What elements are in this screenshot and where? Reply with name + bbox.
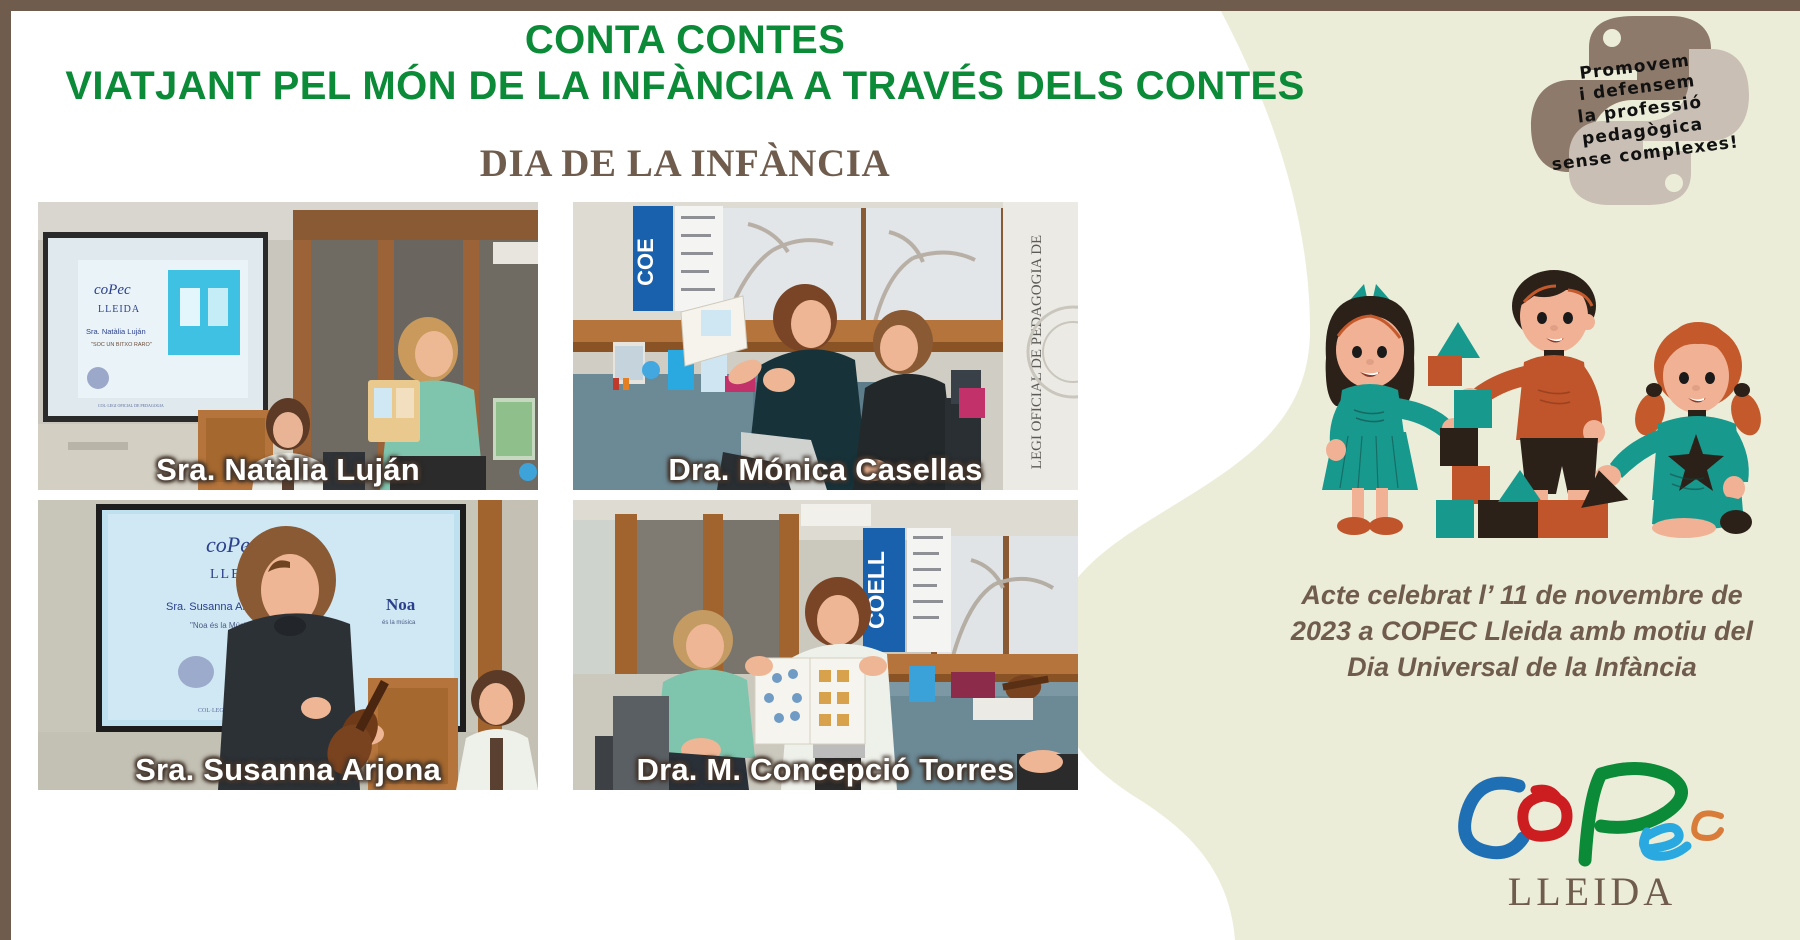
svg-text:"SOC UN BITXO RARO": "SOC UN BITXO RARO" <box>91 342 152 348</box>
title-line-1: CONTA CONTES <box>40 18 1330 64</box>
promovem-badge: Promovem i defensem la professió pedagòg… <box>1515 8 1765 213</box>
photo-3-scene: coPec LLEIDA Sra. Susanna Arjona "Noa és… <box>38 500 538 790</box>
copec-logo-city: LLEIDA <box>1442 868 1742 915</box>
photo-1-caption: Sra. Natàlia Luján <box>38 452 538 488</box>
svg-text:COL·LEGI OFICIAL DE PEDAGOGIA: COL·LEGI OFICIAL DE PEDAGOGIA <box>98 403 164 408</box>
title-block: CONTA CONTES VIATJANT PEL MÓN DE LA INFÀ… <box>40 18 1330 186</box>
event-note-line-3: Dia Universal de la Infància <box>1272 650 1772 686</box>
photo-2-caption: Dra. Mónica Casellas <box>573 452 1078 488</box>
svg-text:coPec: coPec <box>94 282 131 298</box>
photo-concepcio-torres[interactable]: COELL <box>573 500 1078 790</box>
svg-text:és la música: és la música <box>382 620 416 626</box>
kids-illustration-icon <box>1302 238 1792 568</box>
photo-4-scene: COELL <box>573 500 1078 790</box>
copec-logo: LLEIDA <box>1442 752 1742 922</box>
title-line-2: VIATJANT PEL MÓN DE LA INFÀNCIA A TRAVÉS… <box>40 64 1330 110</box>
children-playing-blocks-illustration <box>1302 238 1792 568</box>
frame-top-border <box>0 0 1800 11</box>
photo-2-scene: COE LEGI OFICIAL DE PEDAGOGIA DE <box>573 202 1078 490</box>
svg-text:Sra. Natàlia Luján: Sra. Natàlia Luján <box>86 327 146 336</box>
event-note: Acte celebrat l’ 11 de novembre de 2023 … <box>1272 578 1772 686</box>
girl-left-figure <box>1322 284 1466 535</box>
event-note-line-1: Acte celebrat l’ 11 de novembre de <box>1272 578 1772 614</box>
photo-monica-casellas[interactable]: COE LEGI OFICIAL DE PEDAGOGIA DE <box>573 202 1078 490</box>
photo-4-caption: Dra. M. Concepció Torres <box>573 752 1078 788</box>
photo-grid: coPec LLEIDA Sra. Natàlia Luján "SOC UN … <box>38 202 1078 884</box>
copec-wordmark-icon <box>1447 752 1737 872</box>
frame-left-border <box>0 0 11 940</box>
photo-3-caption: Sra. Susanna Arjona <box>38 752 538 788</box>
svg-text:LLEIDA: LLEIDA <box>98 304 140 315</box>
svg-text:Noa: Noa <box>386 595 416 614</box>
badge-text: Promovem i defensem la professió pedagòg… <box>1503 0 1776 227</box>
svg-text:COE: COE <box>633 238 658 286</box>
photo-susanna-arjona[interactable]: coPec LLEIDA Sra. Susanna Arjona "Noa és… <box>38 500 538 790</box>
event-note-line-2: 2023 a COPEC Lleida amb motiu del <box>1272 614 1772 650</box>
girl-right-figure <box>1595 322 1766 538</box>
svg-text:COL·LEGI: COL·LEGI <box>198 708 226 714</box>
subtitle: DIA DE LA INFÀNCIA <box>40 141 1330 186</box>
photo-natalia-lujan[interactable]: coPec LLEIDA Sra. Natàlia Luján "SOC UN … <box>38 202 538 490</box>
photo-1-scene: coPec LLEIDA Sra. Natàlia Luján "SOC UN … <box>38 202 538 490</box>
poster-canvas: CONTA CONTES VIATJANT PEL MÓN DE LA INFÀ… <box>0 0 1800 940</box>
